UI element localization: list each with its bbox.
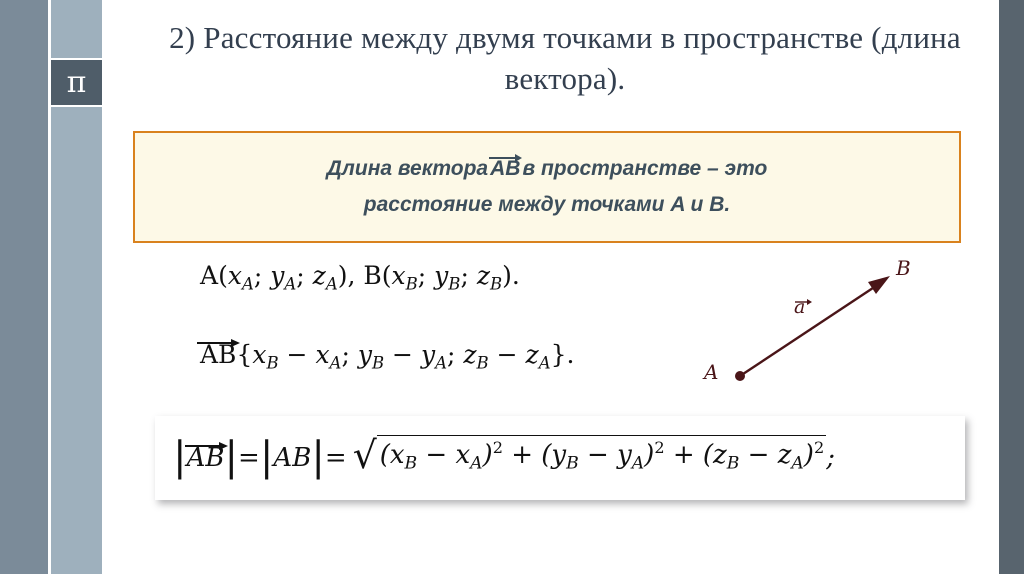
c1-left-sub: B [266,353,278,372]
t2-paren-close: ) [644,440,654,470]
coords-sep-1: ; [341,340,357,369]
point-a-name: A [200,261,218,290]
c3-left-sub: B [477,353,489,372]
f-t1-op: − [417,440,455,470]
b-z-sub: B [490,274,502,293]
c2-left-sub: B [372,353,384,372]
f-t2-pow: 2 [654,438,664,457]
c2-op: − [384,340,421,369]
callout-line-2: расстояние между точками A и B. [364,193,730,217]
f-t3-left: z [713,440,727,470]
f-t2-left: y [551,440,566,470]
f-t3-op: − [739,440,777,470]
callout-line1-before: Длина вектора [327,157,488,181]
b-x-sub: B [406,274,418,293]
f-t2-left-sub: B [566,454,579,474]
a-y: y [270,261,284,290]
brace-close: }. [551,340,575,369]
diagram-label-b: B [896,256,911,280]
paren-open-a: ( [218,261,228,290]
c3-right-sub: A [539,353,551,372]
f-t2-right: y [617,440,632,470]
callout-line-1: Длина вектора AB в пространстве – это [327,157,768,181]
c3-right: z [526,340,539,369]
point-b-name: B [363,261,381,290]
vector-arrow-icon [184,428,228,439]
right-rail [999,0,1024,574]
f-t1-left: x [390,440,405,470]
t1-paren-close: ) [483,440,493,470]
f-plus-1: + [503,440,541,470]
slide-canvas: π 2) Расстояние между двумя точками в пр… [0,0,1024,574]
formula-tail: ; [826,443,835,473]
formula-equals-2: = [325,443,347,473]
c2-right: y [421,340,435,369]
t3-paren-open: ( [703,440,713,470]
square-root-group: √(xB − xA)2 + (yB − yA)2 + (zB − zA)2 [353,439,827,477]
f-t3-right: z [778,440,792,470]
vector-arrow-icon [795,288,812,296]
b-z: z [477,261,490,290]
vector-arrow-icon [488,144,522,154]
formula-equals-1: = [238,443,260,473]
diagram-label-a: A [704,360,718,384]
abs-bar-open-2: | [260,443,274,471]
diagram-vector-label-group: a [794,296,805,318]
a-z: z [313,261,326,290]
radical-sign-icon: √ [353,437,377,475]
vector-diagram: A B a [700,248,950,403]
a-x-sub: A [242,274,254,293]
pi-icon: π [51,58,102,107]
f-t2-right-sub: A [632,454,644,474]
formula-vector-ab-group: AB [187,443,225,473]
f-t1-left-sub: B [405,454,418,474]
coords-sep-2: ; [447,340,463,369]
abs-bar-close-2: | [311,443,325,471]
formula-ab-label: AB [273,443,311,473]
paren-open-b: ( [382,261,392,290]
b-y: y [434,261,448,290]
f-plus-2: + [665,440,703,470]
sep-1: ; [254,261,270,290]
t3-paren-close: ) [804,440,814,470]
distance-formula-box: |AB|=|AB|=√(xB − xA)2 + (yB − yA)2 + (zB… [155,416,965,500]
page-title: 2) Расстояние между двумя точками в прос… [150,18,980,100]
left-rail-outer [0,0,48,574]
t1-paren-open: ( [380,440,390,470]
f-t3-pow: 2 [814,438,824,457]
distance-formula: |AB|=|AB|=√(xB − xA)2 + (yB − yA)2 + (zB… [173,439,835,477]
radicand: (xB − xA)2 + (yB − yA)2 + (zB − zA)2 [377,435,826,477]
b-y-sub: B [448,274,460,293]
math-points-line: A(xA; yA; zA), B(xB; yB; zB). [200,261,520,293]
callout-line1-after: в пространстве – это [522,157,767,181]
b-x: x [392,261,406,290]
sep-2: ; [296,261,312,290]
f-t1-right-sub: A [470,454,482,474]
f-t1-right: x [455,440,470,470]
math-vector-coords-line: AB{xB − xA; yB − yA; zB − zA}. [200,340,574,372]
abs-bar-close-1: | [224,443,238,471]
paren-close-a: ), [338,261,364,290]
f-t3-left-sub: B [727,454,740,474]
definition-callout: Длина вектора AB в пространстве – это ра… [133,131,961,243]
f-t2-op: − [579,440,617,470]
c1-left: x [252,340,266,369]
vector-arrow-graphic [700,248,950,403]
a-y-sub: A [284,274,296,293]
a-x: x [228,261,242,290]
c1-op: − [279,340,316,369]
vector-arrow-icon [196,325,240,336]
c1-right: x [315,340,329,369]
c1-right-sub: A [330,353,342,372]
f-t1-pow: 2 [493,438,503,457]
c3-left: z [463,340,476,369]
paren-close-b: ). [502,261,520,290]
a-z-sub: A [326,274,338,293]
c3-op: − [489,340,526,369]
sep-3: ; [418,261,434,290]
t2-paren-open: ( [541,440,551,470]
c2-right-sub: A [435,353,447,372]
c2-left: y [358,340,372,369]
vector-ab-overline-group: AB [488,157,522,181]
f-t3-right-sub: A [791,454,803,474]
sep-4: ; [460,261,476,290]
vector-ab-group: AB [200,340,236,369]
